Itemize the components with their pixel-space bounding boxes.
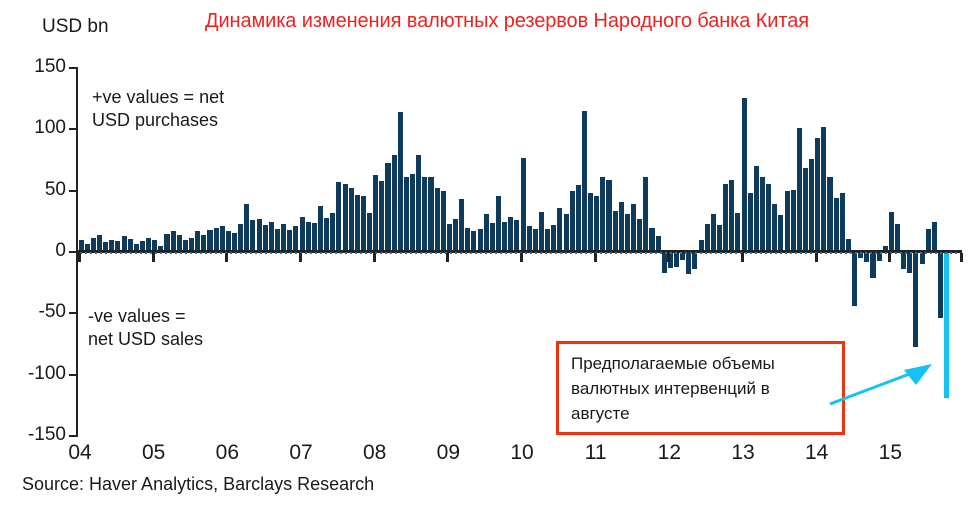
y-axis-tick-label: 50 [4,179,66,201]
bar-reserve-change [895,224,900,251]
bar-reserve-change [889,212,894,251]
bar-reserve-change [257,219,262,251]
bar-reserve-change [760,177,765,251]
bar-reserve-change [809,159,814,251]
bar-reserve-change [705,224,710,251]
x-axis-tick-label: 08 [363,441,386,465]
x-axis-end-cap [960,253,963,262]
bar-reserve-change [244,204,249,251]
bar-reserve-change [827,177,832,251]
bar-reserve-change [422,177,427,251]
bar-reserve-change [435,188,440,251]
bar-reserve-change [502,222,507,251]
bar-reserve-change [797,128,802,251]
bar-reserve-change [527,226,532,251]
bar-reserve-change [471,231,476,251]
x-axis-tick [373,253,376,262]
bar-reserve-change [514,220,519,251]
y-axis-tick-label: 150 [4,56,66,78]
bar-reserve-change [803,168,808,251]
bar-reserve-change [754,166,759,251]
bar-reserve-change [490,223,495,251]
bar-reserve-change [312,223,317,251]
y-axis-tick [69,190,78,192]
bar-reserve-change [355,195,360,251]
bar-reserve-change [343,184,348,251]
bar-reserve-change [723,184,728,251]
bar-reserve-change [576,185,581,251]
x-axis-tick-label: 09 [437,441,460,465]
bar-reserve-change [613,211,618,251]
bar-reserve-change [508,217,513,251]
bar-reserve-change [441,191,446,251]
x-axis-tick [520,253,523,262]
y-axis-tick [69,374,78,376]
x-axis-tick-label: 10 [510,441,533,465]
bar-reserve-change [570,191,575,251]
y-axis-tick [69,67,78,69]
bar-reserve-change [551,225,556,251]
x-axis-tick-label: 04 [68,441,91,465]
x-axis-tick-label: 15 [879,441,902,465]
bar-reserve-change [287,230,292,251]
bar-reserve-change [521,158,526,251]
x-axis-tick [446,253,449,262]
bar-reserve-change [97,235,102,251]
bar-reserve-change [588,193,593,251]
x-axis-ticks-wrapper [0,253,978,263]
chart-title: Динамика изменения валютных резервов Нар… [205,10,809,33]
x-axis-tick [225,253,228,262]
bar-reserve-change [250,220,255,251]
note-negative-values: -ve values = net USD sales [88,305,203,351]
bar-reserve-change [122,236,127,251]
x-axis-tick-label: 12 [658,441,681,465]
x-axis-tick [78,253,81,262]
bar-reserve-change [649,228,654,251]
y-axis-tick-label: -150 [4,424,66,446]
x-axis-tick [152,253,155,262]
x-axis-tick-label: 07 [289,441,312,465]
bar-reserve-change [735,213,740,251]
bar-reserve-change [631,204,636,251]
y-axis-tick-label: 100 [4,117,66,139]
bar-reserve-change [171,231,176,251]
bar-reserve-change [815,138,820,251]
y-axis-tick-label: -100 [4,363,66,385]
y-axis-unit-label: USD bn [42,16,109,38]
bar-reserve-change [766,184,771,251]
bar-reserve-change [404,177,409,251]
bar-reserve-change [293,226,298,251]
bar-reserve-change [300,217,305,251]
bar-reserve-change [195,231,200,251]
bar-reserve-change [275,229,280,251]
x-axis-tick-label: 06 [216,441,239,465]
bar-reserve-change [711,214,716,251]
bar-reserve-change [416,155,421,251]
bar-reserve-change [367,213,372,251]
source-line: Source: Haver Analytics, Barclays Resear… [22,474,374,495]
bar-reserve-change [189,238,194,251]
bar-august-intervention-estimate [944,251,949,398]
x-axis-tick [594,253,597,262]
bar-reserve-change [263,225,268,251]
callout-box: Предполагаемые объемы валютных интервенц… [556,341,845,435]
x-axis-tick [815,253,818,262]
bar-reserve-change [643,177,648,251]
bar-reserve-change [926,229,931,251]
bar-reserve-change [201,235,206,251]
callout-text: Предполагаемые объемы валютных интервенц… [571,351,833,426]
bar-reserve-change [606,180,611,251]
bar-reserve-change [238,224,243,251]
x-axis-tick-label: 05 [142,441,165,465]
bar-reserve-change [214,228,219,251]
bar-reserve-change [557,208,562,251]
bar-reserve-change [318,206,323,251]
bar-reserve-change [834,198,839,251]
bar-reserve-change [772,204,777,251]
bar-reserve-change [379,181,384,251]
y-axis-tick [69,435,78,437]
note-positive-values: +ve values = net USD purchases [92,86,224,132]
bar-reserve-change [594,196,599,251]
bar-reserve-change [361,196,366,251]
bar-reserve-change [459,199,464,251]
bar-reserve-change [539,212,544,251]
x-axis-tick [299,253,302,262]
bar-reserve-change [785,191,790,251]
bar-reserve-change [177,235,182,251]
bar-reserve-change [207,230,212,251]
x-axis-tick-label: 14 [805,441,828,465]
bar-reserve-change [791,190,796,251]
bar-reserve-change [821,127,826,251]
bar-reserve-change [717,225,722,251]
bar-reserve-change [656,236,661,251]
bar-reserve-change [349,188,354,251]
bar-reserve-change [742,98,747,251]
bar-reserve-change [778,215,783,251]
bar-reserve-change [146,238,151,251]
bar-reserve-change [306,222,311,251]
x-axis-tick [667,253,670,262]
bar-reserve-change [545,229,550,251]
y-axis-labels: 150100500-50-100-150 [0,67,66,435]
x-axis-labels: 040506070809101112131415 [78,441,962,469]
bar-reserve-change [385,163,390,251]
bar-reserve-change [600,177,605,251]
bar-reserve-change [398,112,403,251]
x-axis-tick [888,253,891,262]
x-axis-tick-label: 11 [585,441,607,465]
bar-reserve-change [428,177,433,251]
bar-reserve-change [619,202,624,251]
bar-reserve-change [226,231,231,251]
bar-reserve-change [625,214,630,251]
y-axis-tick [69,128,78,130]
bar-reserve-change [496,196,501,251]
bar-reserve-change [373,175,378,251]
bar-reserve-change [281,224,286,251]
bar-reserve-change [410,174,415,251]
bar-reserve-change [269,222,274,251]
bar-reserve-change [564,214,569,251]
bar-reserve-change [840,193,845,251]
bar-reserve-change [465,228,470,251]
bar-reserve-change [484,214,489,251]
bar-reserve-change [729,180,734,251]
bar-reserve-change [913,251,918,347]
bar-reserve-change [932,222,937,251]
x-axis-tick-label: 13 [731,441,754,465]
y-axis-tick-label: -50 [4,301,66,323]
bar-reserve-change [232,233,237,251]
bar-reserve-change [330,213,335,251]
bar-reserve-change [336,182,341,251]
bar-reserve-change [453,219,458,251]
y-axis-tick [69,312,78,314]
bar-reserve-change [220,226,225,251]
bar-reserve-change [582,111,587,251]
x-axis-ticks [78,253,962,263]
bar-reserve-change [447,224,452,251]
bar-reserve-change [637,219,642,251]
bar-reserve-change [164,234,169,251]
bar-reserve-change [324,218,329,251]
bar-reserve-change [392,155,397,251]
bar-reserve-change [748,193,753,251]
x-axis-tick [741,253,744,262]
bar-reserve-change [533,229,538,251]
bar-reserve-change [478,229,483,251]
bar-reserve-change [91,238,96,251]
